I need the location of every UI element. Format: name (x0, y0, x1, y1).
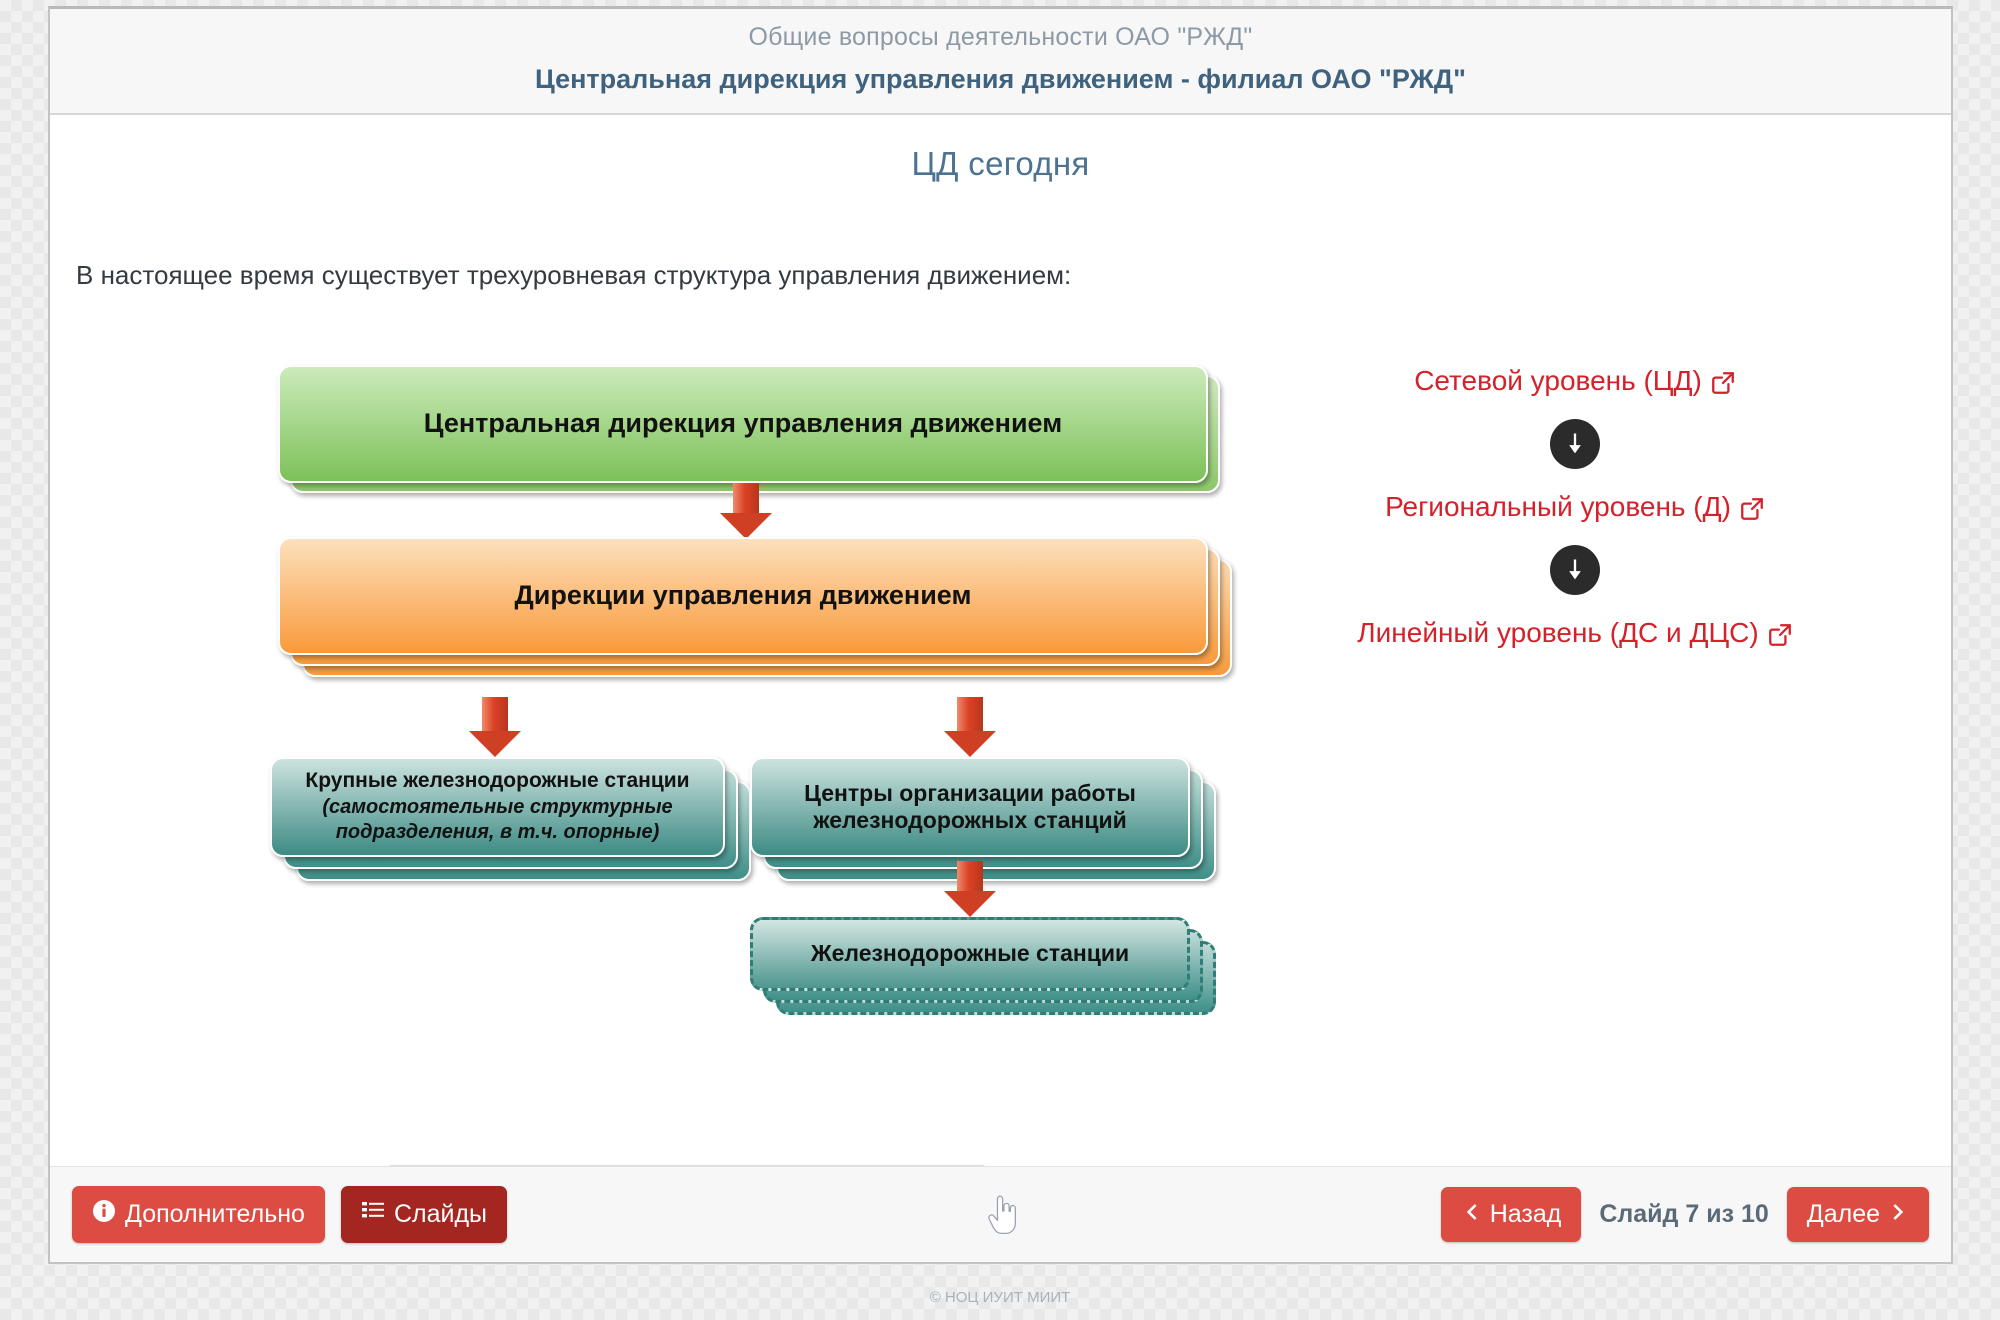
page-footer: © НОЦ ИУИТ МИИТ (0, 1289, 2000, 1306)
external-link-icon (1710, 370, 1736, 396)
chevron-left-icon (1461, 1200, 1481, 1229)
level-label-network: Сетевой уровень (ЦД) (1414, 365, 1702, 397)
slide-counter: Слайд 7 из 10 (1599, 1200, 1768, 1229)
arrow-down-icon (716, 483, 776, 539)
level-link-linear[interactable]: Линейный уровень (ДС и ДЦС) (1357, 617, 1792, 649)
toolbar-right-group: Назад Слайд 7 из 10 Далее (1441, 1187, 1929, 1242)
directions-label: Дирекции управления движением (278, 537, 1208, 655)
slides-label: Слайды (394, 1200, 487, 1229)
presentation-frame: Общие вопросы деятельности ОАО "РЖД" Цен… (48, 6, 1953, 1264)
central-directorate-label: Центральная дирекция управления движение… (278, 365, 1208, 483)
presentation-header: Общие вопросы деятельности ОАО "РЖД" Цен… (50, 9, 1951, 115)
diagram-box-central-directorate: Центральная дирекция управления движение… (278, 365, 1208, 483)
large-stations-content: Крупные железнодорожные станции (самосто… (270, 757, 725, 857)
organization-title: Центральная дирекция управления движение… (60, 64, 1941, 95)
level-label-regional: Региональный уровень (Д) (1385, 491, 1731, 523)
level-row-linear: Линейный уровень (ДС и ДЦС) (1255, 617, 1895, 649)
railway-stations-label: Железнодорожные станции (750, 917, 1190, 991)
info-circle-icon (92, 1199, 116, 1230)
chevron-right-icon (1889, 1200, 1909, 1229)
external-link-icon (1767, 622, 1793, 648)
course-subject: Общие вопросы деятельности ОАО "РЖД" (60, 23, 1941, 52)
diagram-box-large-stations: Крупные железнодорожные станции (самосто… (270, 757, 750, 887)
level-row-regional: Региональный уровень (Д) (1255, 491, 1895, 523)
arrow-down-circle-icon (1550, 419, 1600, 469)
level-link-network[interactable]: Сетевой уровень (ЦД) (1414, 365, 1736, 397)
large-stations-subtitle-line1: (самостоятельные структурные (322, 796, 672, 820)
arrow-down-icon (465, 697, 525, 759)
management-levels-legend: Сетевой уровень (ЦД) Региональный у (1255, 365, 1895, 649)
slide-title: ЦД сегодня (50, 115, 1951, 183)
arrow-down-icon (940, 697, 1000, 759)
org-structure-diagram: Центральная дирекция управления движение… (50, 365, 1250, 1015)
level-row-network: Сетевой уровень (ЦД) (1255, 365, 1895, 397)
next-label: Далее (1807, 1200, 1880, 1229)
slide-pagination-popover[interactable]: 1 2 3 4 5 6 7 8 9 10 (387, 1165, 987, 1166)
back-label: Назад (1490, 1200, 1562, 1229)
arrow-down-circle-icon (1550, 545, 1600, 595)
toolbar-left-group: Дополнительно Слайды (72, 1186, 507, 1243)
work-centers-content: Центры организации работы железнодорожны… (750, 757, 1190, 857)
next-button[interactable]: Далее (1787, 1187, 1929, 1242)
slide-intro-text: В настоящее время существует трехуровнев… (76, 260, 1071, 291)
large-stations-title: Крупные железнодорожные станции (305, 769, 689, 794)
pointer-hand-cursor (984, 1195, 1018, 1235)
diagram-box-railway-stations: Железнодорожные станции (750, 917, 1230, 1027)
additional-info-label: Дополнительно (125, 1200, 305, 1229)
list-icon (361, 1199, 385, 1230)
arrow-down-icon (940, 861, 1000, 919)
work-centers-line2: железнодорожных станций (813, 807, 1127, 834)
work-centers-line1: Центры организации работы (804, 780, 1136, 807)
diagram-box-directions: Дирекции управления движением (278, 537, 1218, 697)
slide-canvas: ЦД сегодня В настоящее время существует … (50, 115, 1951, 1166)
slides-button[interactable]: Слайды (341, 1186, 507, 1243)
level-link-regional[interactable]: Региональный уровень (Д) (1385, 491, 1765, 523)
external-link-icon (1739, 496, 1765, 522)
bottom-toolbar: Дополнительно Слайды (50, 1166, 1951, 1262)
back-button[interactable]: Назад (1441, 1187, 1582, 1242)
large-stations-subtitle-line2: подразделения, в т.ч. опорные) (336, 821, 660, 845)
additional-info-button[interactable]: Дополнительно (72, 1186, 325, 1243)
level-label-linear: Линейный уровень (ДС и ДЦС) (1357, 617, 1758, 649)
